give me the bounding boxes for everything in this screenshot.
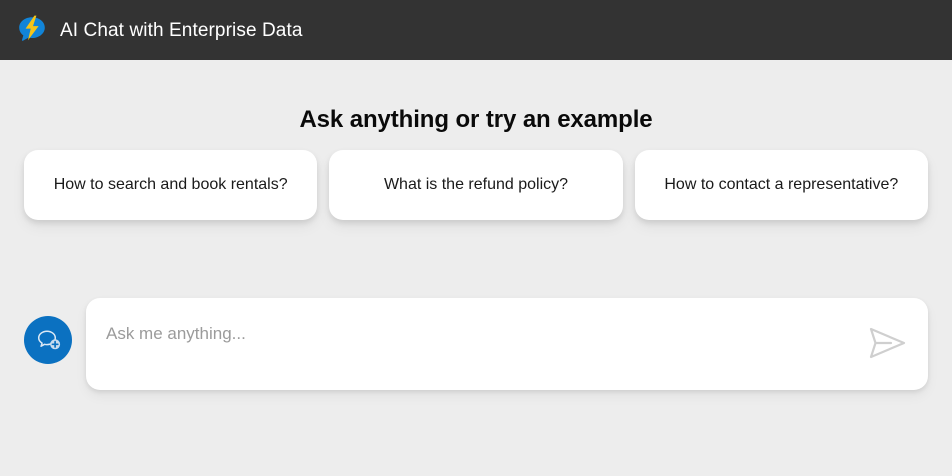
example-prompt-label: How to search and book rentals? — [54, 175, 288, 194]
chat-input-shell — [86, 298, 928, 390]
example-prompt-card-1[interactable]: How to search and book rentals? — [24, 150, 317, 220]
new-chat-button[interactable] — [24, 316, 72, 364]
app-header: AI Chat with Enterprise Data — [0, 0, 952, 60]
example-prompt-label: What is the refund policy? — [384, 175, 568, 194]
example-prompt-list: How to search and book rentals? What is … — [24, 150, 928, 220]
example-prompt-label: How to contact a representative? — [664, 175, 898, 194]
main-content: Ask anything or try an example How to se… — [0, 60, 952, 476]
example-prompt-card-3[interactable]: How to contact a representative? — [635, 150, 928, 220]
app-title: AI Chat with Enterprise Data — [60, 21, 303, 40]
page-title: Ask anything or try an example — [0, 106, 952, 134]
chat-app-window: AI Chat with Enterprise Data Ask anythin… — [0, 0, 952, 476]
send-paper-plane-icon — [864, 323, 910, 363]
chat-composer — [24, 298, 928, 390]
chat-bolt-logo-icon — [16, 14, 48, 46]
example-prompt-card-2[interactable]: What is the refund policy? — [329, 150, 622, 220]
send-button[interactable] — [864, 320, 910, 366]
new-chat-bubble-plus-icon — [34, 326, 62, 354]
chat-input[interactable] — [86, 298, 928, 390]
